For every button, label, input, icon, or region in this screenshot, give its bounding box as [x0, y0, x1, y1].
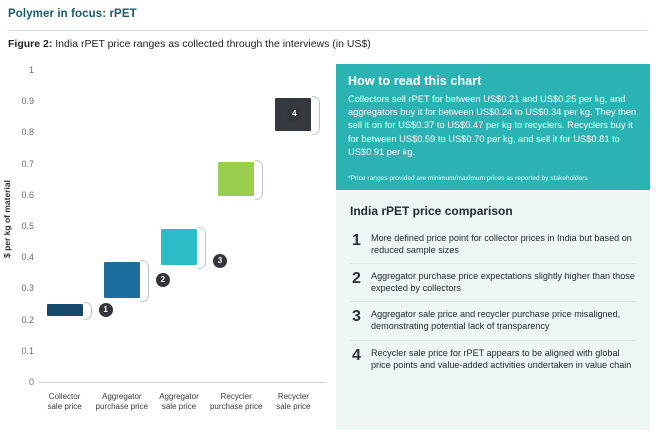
header-divider — [8, 30, 648, 31]
y-axis-tick: 0.8 — [4, 128, 34, 137]
y-axis-tick: 0.7 — [4, 160, 34, 169]
comparison-list: 1More defined price point for collector … — [350, 226, 636, 378]
x-axis-line — [38, 382, 326, 383]
y-axis-tick: 0.4 — [4, 253, 34, 262]
annotation-marker-2: 2 — [156, 273, 170, 287]
range-brace-1 — [84, 302, 92, 320]
range-brace-2 — [141, 260, 149, 302]
x-axis-category-1: Collectorsale price — [36, 392, 93, 412]
x-axis-category-line: purchase price — [208, 402, 265, 412]
y-axis-tick: 0.2 — [4, 316, 34, 325]
comparison-panel: India rPET price comparison 1More define… — [336, 192, 650, 430]
figure-page: Polymer in focus: rPET Figure 2: India r… — [0, 0, 656, 437]
x-axis-category-5: Recyclersale price — [265, 392, 322, 412]
bar-2 — [104, 262, 140, 298]
x-axis-category-line: Collector — [36, 392, 93, 402]
comparison-item: 1More defined price point for collector … — [350, 226, 636, 263]
comparison-item: 4Recycler sale price for rPET appears to… — [350, 340, 636, 378]
comparison-title: India rPET price comparison — [350, 204, 636, 218]
how-to-read-body: Collectors sell rPET for between US$0.21… — [348, 93, 638, 159]
page-kicker: Polymer in focus: rPET — [8, 8, 137, 20]
x-axis-category-line: Aggregator — [150, 392, 207, 402]
y-axis-tick: 1 — [4, 66, 34, 75]
x-axis-category-line: sale price — [36, 402, 93, 412]
annotation-marker-3: 3 — [213, 254, 227, 268]
figure-caption-text: India rPET price ranges as collected thr… — [52, 38, 370, 50]
x-axis-category-line: Recycler — [208, 392, 265, 402]
annotation-marker-1: 1 — [99, 303, 113, 317]
comparison-item-text: Aggregator sale price and recycler purch… — [371, 308, 636, 332]
comparison-item-number: 1 — [350, 232, 363, 249]
comparison-item: 2Aggregator purchase price expectations … — [350, 263, 636, 301]
comparison-item-number: 4 — [350, 347, 363, 364]
chart: $ per kg of material 00.10.20.30.40.50.6… — [0, 62, 332, 422]
how-to-read-title: How to read this chart — [348, 74, 638, 88]
x-axis-category-line: sale price — [150, 402, 207, 412]
bar-3 — [161, 229, 197, 265]
range-brace-4 — [255, 160, 263, 200]
how-to-read-footnote: *Price ranges provided are minimum/maxim… — [348, 175, 640, 184]
bar-1 — [47, 304, 83, 316]
y-axis-tick: 0.5 — [4, 222, 34, 231]
comparison-item-text: More defined price point for collector p… — [371, 232, 636, 256]
y-axis-tick: 0.1 — [4, 347, 34, 356]
x-axis-category-line: Aggregator — [93, 392, 150, 402]
y-axis-tick: 0 — [4, 378, 34, 387]
how-to-read-panel: How to read this chart Collectors sell r… — [336, 64, 650, 190]
x-axis-category-line: Recycler — [265, 392, 322, 402]
comparison-item-text: Aggregator purchase price expectations s… — [371, 270, 636, 294]
y-axis-tick: 0.9 — [4, 97, 34, 106]
comparison-item: 3Aggregator sale price and recycler purc… — [350, 301, 636, 339]
x-axis-category-2: Aggregatorpurchase price — [93, 392, 150, 412]
x-axis-category-line: purchase price — [93, 402, 150, 412]
bar-4 — [218, 162, 254, 196]
plot-area: 00.10.20.30.40.50.60.70.80.911234 — [38, 70, 324, 382]
range-brace-3 — [198, 227, 206, 269]
range-brace-5 — [312, 96, 320, 135]
x-axis-category-3: Aggregatorsale price — [150, 392, 207, 412]
x-axis-category-4: Recyclerpurchase price — [208, 392, 265, 412]
y-axis-tick: 0.6 — [4, 191, 34, 200]
comparison-item-text: Recycler sale price for rPET appears to … — [371, 347, 636, 371]
y-axis-tick: 0.3 — [4, 284, 34, 293]
comparison-item-number: 2 — [350, 270, 363, 287]
comparison-item-number: 3 — [350, 308, 363, 325]
x-axis-category-line: sale price — [265, 402, 322, 412]
figure-number: Figure 2: — [8, 38, 52, 50]
figure-caption: Figure 2: India rPET price ranges as col… — [8, 38, 371, 50]
